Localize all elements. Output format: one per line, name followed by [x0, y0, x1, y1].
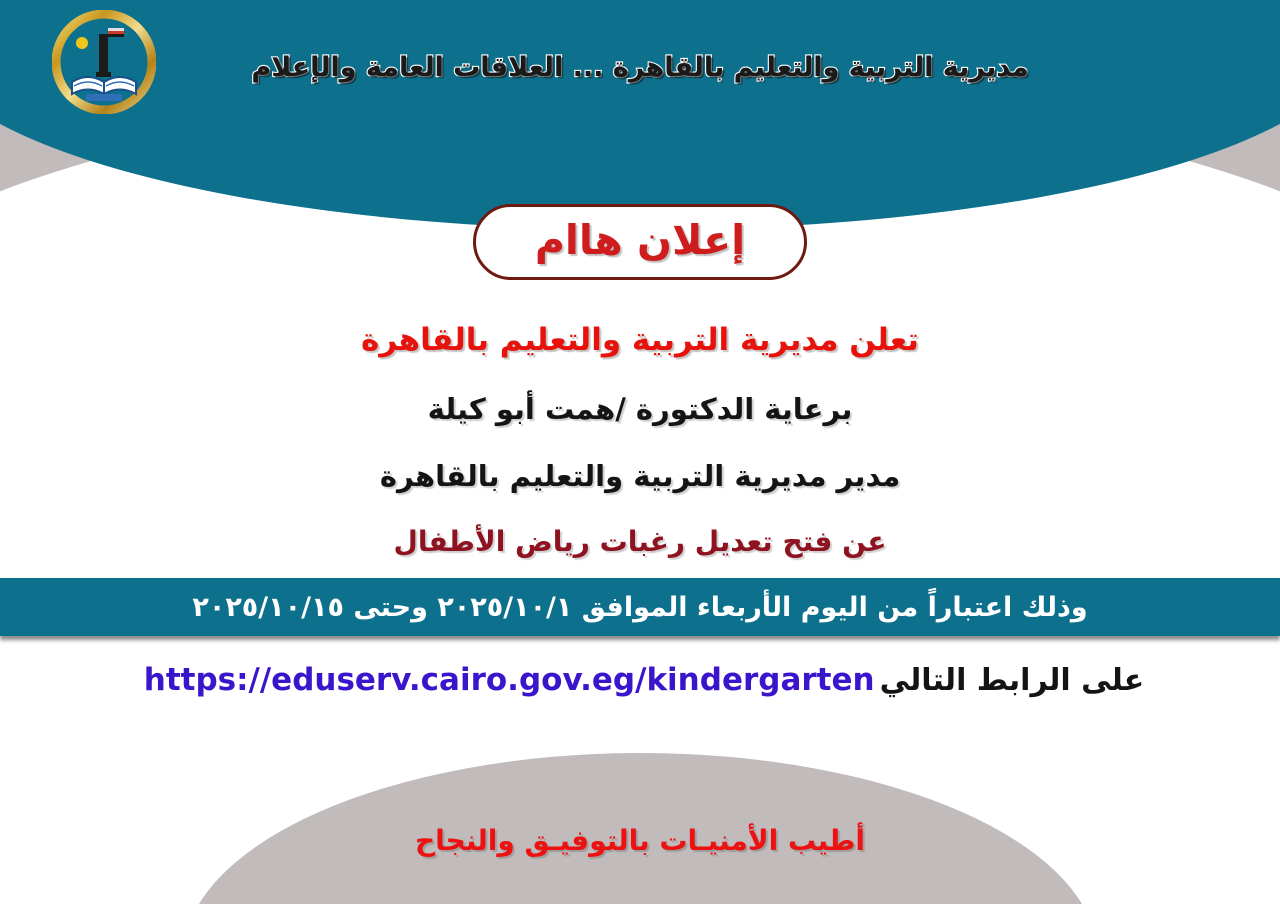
date-banner: وذلك اعتباراً من اليوم الأربعاء الموافق …	[0, 578, 1280, 636]
registration-url[interactable]: https://eduserv.cairo.gov.eg/kindergarte…	[144, 662, 875, 698]
announcement-line-3: مدير مديرية التربية والتعليم بالقاهرة	[0, 459, 1280, 493]
announcement-poster: مديرية التربية والتعليم بالقاهرة ... الع…	[0, 0, 1280, 904]
announcement-line-4: عن فتح تعديل رغبات رياض الأطفال	[0, 525, 1280, 558]
link-line: على الرابط التالي https://eduserv.cairo.…	[0, 662, 1280, 698]
date-banner-text: وذلك اعتباراً من اليوم الأربعاء الموافق …	[192, 592, 1087, 623]
header-title: مديرية التربية والتعليم بالقاهرة ... الع…	[0, 52, 1280, 83]
announcement-line-1: تعلن مديرية التربية والتعليم بالقاهرة	[0, 322, 1280, 358]
announcement-line-2: برعاية الدكتورة /همت أبو كيلة	[0, 392, 1280, 426]
important-announcement-badge: إعلان هاام	[473, 204, 807, 280]
link-label: على الرابط التالي	[880, 663, 1145, 698]
badge-label: إعلان هاام	[535, 220, 745, 265]
footer-wish-text: أطيب الأمنيـات بالتوفيـق والنجاح	[0, 824, 1280, 857]
